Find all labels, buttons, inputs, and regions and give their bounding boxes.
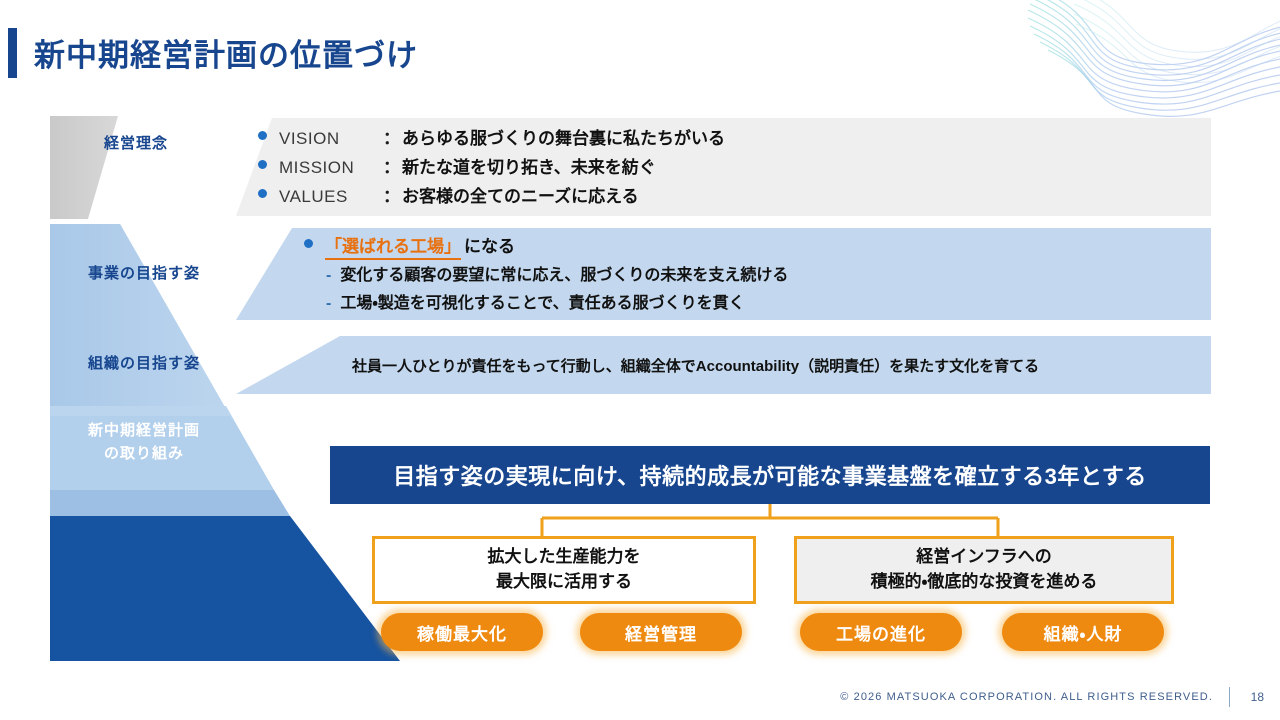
strategy-right-line1: 経営インフラへの <box>916 545 1052 570</box>
philosophy-key: VISION <box>279 129 383 149</box>
philosophy-value: 新たな道を切り拓き、未来を紡ぐ <box>402 153 656 178</box>
business-vision-sub: - 変化する顧客の要望に常に応え、服づくりの未来を支え続ける <box>304 261 1209 289</box>
business-vision-sub-text: 工場・製造を可視化することで、責任ある服づくりを貫く <box>340 289 744 313</box>
bullet-dot-icon <box>258 160 267 169</box>
business-vision-sub-text: 変化する顧客の要望に常に応え、服づくりの未来を支え続ける <box>340 261 788 285</box>
philosophy-item: VISION ： あらゆる服づくりの舞台裏に私たちがいる <box>258 124 1208 153</box>
business-vision-items: 「選ばれる工場」 になる - 変化する顧客の要望に常に応え、服づくりの未来を支え… <box>304 231 1209 317</box>
philosophy-separator: ： <box>383 182 400 207</box>
philosophy-key: MISSION <box>279 158 383 178</box>
pill-keiei-kanri: 経営管理 <box>580 613 742 651</box>
dash-icon: - <box>326 295 331 313</box>
pill-soshiki-jinzai: 組織・人財 <box>1002 613 1164 651</box>
pill-kojo-no-shinka: 工場の進化 <box>800 613 962 651</box>
copyright-text: © 2026 MATSUOKA CORPORATION. ALL RIGHTS … <box>840 691 1213 703</box>
philosophy-separator: ： <box>383 124 400 149</box>
plan-label-line1: 新中期経営計画 <box>56 420 232 443</box>
title-accent-bar <box>8 28 17 78</box>
slide-canvas: 新中期経営計画の位置づけ 経営理念 <box>0 0 1280 720</box>
business-vision-highlight: 「選ばれる工場」 <box>325 232 461 260</box>
dash-icon: - <box>326 267 331 285</box>
bullet-dot-icon <box>304 239 313 248</box>
business-vision-sub: - 工場・製造を可視化することで、責任ある服づくりを貫く <box>304 289 1209 317</box>
philosophy-items: VISION ： あらゆる服づくりの舞台裏に私たちがいる MISSION ： 新… <box>258 122 1208 212</box>
wave-decoration-icon <box>1020 0 1280 130</box>
strategy-left-line1: 拡大した生産能力を <box>488 545 641 570</box>
strategy-box-right: 経営インフラへの 積極的・徹底的な投資を進める <box>794 536 1174 604</box>
plan-label-line2: の取り組み <box>56 443 232 466</box>
organization-vision-text: 社員一人ひとりが責任をもって行動し、組織全体でAccountability（説明… <box>352 336 1202 394</box>
business-vision-highlight-tail: になる <box>464 232 515 257</box>
connector-lines <box>330 504 1210 540</box>
philosophy-label: 経営理念 <box>56 132 216 153</box>
footer-divider <box>1229 687 1230 707</box>
philosophy-key: VALUES <box>279 187 383 207</box>
page-number: 18 <box>1248 690 1264 704</box>
business-vision-main: 「選ばれる工場」 になる <box>304 232 1209 261</box>
strategy-box-left: 拡大した生産能力を 最大限に活用する <box>372 536 756 604</box>
philosophy-value: お客様の全てのニーズに応える <box>402 182 639 207</box>
pill-kadou-saidaika: 稼働最大化 <box>381 613 543 651</box>
footer: © 2026 MATSUOKA CORPORATION. ALL RIGHTS … <box>840 686 1264 708</box>
strategy-left-line2: 最大限に活用する <box>496 570 632 595</box>
philosophy-item: MISSION ： 新たな道を切り拓き、未来を紡ぐ <box>258 153 1208 182</box>
bullet-dot-icon <box>258 131 267 140</box>
philosophy-value: あらゆる服づくりの舞台裏に私たちがいる <box>402 124 725 149</box>
organization-vision-label: 組織の目指す姿 <box>56 352 232 373</box>
philosophy-separator: ： <box>383 153 400 178</box>
main-banner: 目指す姿の実現に向け、持続的成長が可能な事業基盤を確立する3年とする <box>330 446 1210 504</box>
philosophy-item: VALUES ： お客様の全てのニーズに応える <box>258 182 1208 211</box>
page-title: 新中期経営計画の位置づけ <box>34 30 418 75</box>
business-vision-label: 事業の目指す姿 <box>56 262 232 283</box>
bullet-dot-icon <box>258 189 267 198</box>
strategy-right-line2: 積極的・徹底的な投資を進める <box>871 570 1098 595</box>
